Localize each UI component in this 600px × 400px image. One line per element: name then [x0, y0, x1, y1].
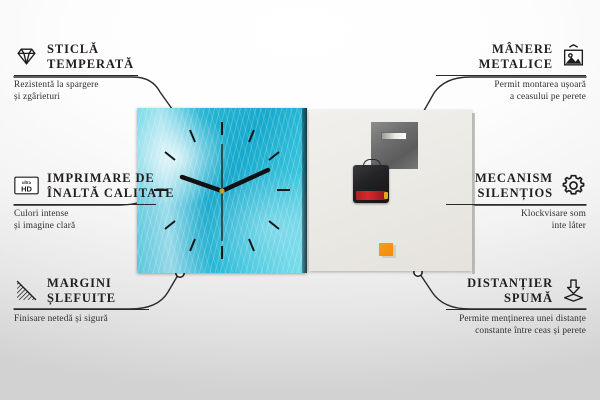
hanger-slot	[381, 132, 407, 140]
clock-mechanism	[353, 165, 389, 203]
callout-title: MÂNERE METALICE	[479, 42, 553, 72]
callout-divider	[14, 75, 138, 76]
callout-divider	[446, 309, 586, 310]
callout-subtitle: Permite menținerea unei distanțe constan…	[418, 313, 586, 338]
callout-divider	[446, 204, 586, 205]
hands-center-cap	[219, 188, 224, 193]
callout-metal-handles[interactable]: MÂNERE METALICE Permit montarea ușoară a…	[436, 42, 586, 103]
callout-header: MECANISM SILENȚIOS	[446, 171, 586, 201]
callout-header: DISTANȚIER SPUMĂ	[446, 276, 586, 306]
callout-silent-mechanism[interactable]: MECANISM SILENȚIOS Klockvisare som inte …	[446, 171, 586, 232]
callout-subtitle: Klockvisare som inte låter	[446, 208, 586, 233]
callout-header: MÂNERE METALICE	[436, 42, 586, 72]
callout-high-quality-print[interactable]: ultra HD IMPRIMARE DE ÎNALTĂ CALITATE Cu…	[14, 171, 184, 232]
tick-5	[249, 239, 254, 251]
callout-subtitle: Finisare netedă și sigură	[14, 313, 174, 325]
callout-divider	[436, 75, 586, 76]
callout-divider	[14, 309, 149, 310]
foam-spacer-pad	[379, 243, 393, 256]
infographic-canvas: STICLĂ TEMPERATĂ Rezistentă la spargere …	[0, 0, 600, 400]
callout-title: DISTANȚIER SPUMĂ	[467, 276, 553, 306]
callout-title: STICLĂ TEMPERATĂ	[47, 42, 134, 72]
down-arrow-stack-icon	[561, 278, 586, 303]
minute-hand	[222, 170, 268, 191]
callout-header: MARGINI ȘLEFUITE	[14, 276, 174, 306]
picture-hanger-icon	[561, 44, 586, 69]
mechanism-hanging-loop	[363, 159, 381, 169]
callout-subtitle: Permit montarea ușoară a ceasului pe per…	[436, 79, 586, 104]
callout-header: ultra HD IMPRIMARE DE ÎNALTĂ CALITATE	[14, 171, 184, 201]
clock-front-side-edge	[302, 108, 307, 273]
callout-subtitle: Culori intense și imagine clară	[14, 208, 184, 233]
callout-header: STICLĂ TEMPERATĂ	[14, 42, 164, 72]
battery	[356, 191, 386, 200]
ultra-hd-icon: ultra HD	[14, 173, 39, 198]
tick-11	[190, 130, 195, 142]
callout-tempered-glass[interactable]: STICLĂ TEMPERATĂ Rezistentă la spargere …	[14, 42, 164, 103]
callout-title: IMPRIMARE DE ÎNALTĂ CALITATE	[47, 171, 175, 201]
callout-subtitle: Rezistentă la spargere și zgârieturi	[14, 79, 164, 104]
callout-title: MECANISM SILENȚIOS	[475, 171, 553, 201]
gear-icon	[561, 173, 586, 198]
callout-foam-spacer[interactable]: DISTANȚIER SPUMĂ Permite menținerea unei…	[446, 276, 586, 337]
callout-title: MARGINI ȘLEFUITE	[47, 276, 116, 306]
tick-4	[269, 221, 279, 229]
svg-text:HD: HD	[21, 185, 32, 194]
product-illustration	[137, 108, 472, 273]
tick-1	[249, 130, 254, 142]
callout-polished-edges[interactable]: MARGINI ȘLEFUITE Finisare netedă și sigu…	[14, 276, 174, 325]
tick-7	[190, 239, 195, 251]
tick-10	[165, 152, 175, 160]
tick-2	[269, 152, 279, 160]
hatched-edge-icon	[14, 278, 39, 303]
diamond-icon	[14, 44, 39, 69]
callout-divider	[14, 204, 156, 205]
hour-hand	[182, 177, 222, 191]
